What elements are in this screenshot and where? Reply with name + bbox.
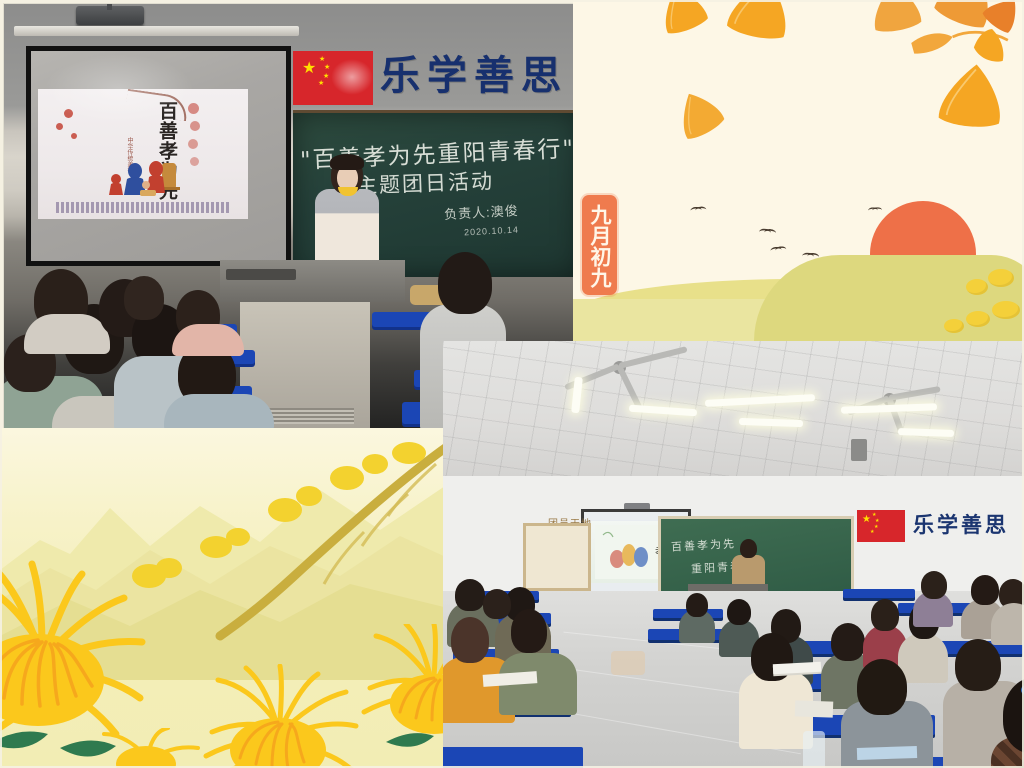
filial-piety-figure-illustration bbox=[100, 157, 196, 199]
screen-roller-bar bbox=[14, 26, 299, 36]
ginkgo-leaf-icon bbox=[664, 79, 734, 149]
blossom-dot bbox=[71, 133, 77, 139]
collage-canvas: 百善孝为先 中华传统美德 ★ ★ ★ ★ ★ bbox=[0, 0, 1024, 768]
water-bottle bbox=[803, 731, 825, 768]
tree-clump bbox=[268, 498, 302, 522]
student-head bbox=[727, 599, 751, 625]
tree-clump bbox=[330, 466, 364, 490]
chinese-flag-icon: ★ ★ ★ ★ ★ bbox=[857, 510, 905, 542]
tree-clump bbox=[944, 319, 964, 333]
flag-small-star: ★ bbox=[323, 73, 329, 80]
tree-clump bbox=[362, 454, 388, 474]
blackboard-line-3: 负责人:澳俊 bbox=[444, 200, 520, 223]
student-body bbox=[24, 314, 110, 354]
bird-icon bbox=[690, 207, 702, 215]
student-head bbox=[511, 609, 547, 653]
tree-clump bbox=[988, 269, 1014, 287]
student-body bbox=[898, 633, 948, 683]
student-body bbox=[172, 324, 244, 356]
presenter-hair bbox=[330, 154, 364, 170]
wall-banner-text: 乐学善思 bbox=[380, 48, 576, 104]
slide-caption-text bbox=[56, 202, 231, 213]
flag-small-star: ★ bbox=[874, 525, 878, 530]
ginkgo-leaf-icon bbox=[928, 56, 1017, 134]
books-stack bbox=[857, 746, 917, 760]
ginkgo-leaf-icon bbox=[649, 0, 715, 40]
bird-icon bbox=[759, 228, 771, 236]
student-head bbox=[971, 575, 999, 605]
student-head bbox=[124, 276, 164, 320]
wall-banner-text: 乐学善思 bbox=[913, 509, 1009, 539]
bird-icon bbox=[868, 207, 878, 214]
tree-clump bbox=[226, 528, 250, 546]
tree-clump bbox=[296, 486, 322, 506]
panel-chrysanthemum-illustration bbox=[0, 428, 448, 768]
blossom-dot bbox=[188, 139, 198, 149]
wall-speaker bbox=[851, 439, 867, 461]
student-head bbox=[686, 593, 708, 617]
presenter-body bbox=[315, 189, 379, 264]
desk bbox=[843, 589, 915, 598]
student-head bbox=[455, 579, 485, 611]
student-head bbox=[955, 639, 1001, 691]
flag-small-star: ★ bbox=[870, 530, 874, 535]
student-head bbox=[438, 252, 492, 314]
blackboard-line-1: 百善孝为先 bbox=[671, 535, 737, 554]
chrysanthemum-small bbox=[86, 728, 206, 768]
projector-mount bbox=[107, 4, 112, 10]
flag-small-star: ★ bbox=[319, 56, 325, 63]
teacher-head bbox=[740, 539, 757, 558]
seal-stamp: 九月初九 bbox=[582, 195, 617, 295]
floor-mark bbox=[611, 651, 645, 675]
flag-big-star: ★ bbox=[862, 515, 871, 525]
flag-big-star: ★ bbox=[302, 61, 316, 77]
flag-small-star: ★ bbox=[318, 80, 324, 87]
chrysanthemum-right bbox=[352, 624, 448, 764]
student-head bbox=[857, 659, 907, 715]
left-notice-board bbox=[523, 523, 591, 591]
flag-small-star: ★ bbox=[324, 64, 330, 71]
student-head bbox=[921, 571, 947, 599]
tree-clump bbox=[966, 311, 990, 327]
blossom-dot bbox=[56, 123, 63, 130]
student-head bbox=[451, 617, 489, 663]
panel-double-ninth-illustration: 九月初九 bbox=[573, 0, 1024, 341]
student-head bbox=[483, 589, 511, 619]
bird-icon bbox=[770, 246, 782, 254]
books-stack bbox=[795, 700, 834, 717]
hill-near bbox=[754, 255, 1024, 341]
desk bbox=[443, 747, 583, 768]
panel-classroom-wide-photo: 孝 百善孝为先 重阳青春行 ★ ★ ★ ★ ★ 乐学善思 公告栏 团员天地 bbox=[443, 341, 1024, 768]
ceiling-tiles bbox=[443, 341, 1024, 481]
podium-computer bbox=[226, 269, 296, 280]
screen-glare bbox=[44, 54, 194, 124]
tree-clump bbox=[966, 279, 988, 295]
student-head bbox=[831, 623, 865, 661]
tree-clump bbox=[992, 301, 1020, 319]
podium-top bbox=[220, 260, 405, 302]
flag-glare bbox=[331, 59, 373, 95]
student-head bbox=[751, 633, 793, 681]
chrysanthemum-mid bbox=[180, 664, 380, 768]
chinese-flag-icon: ★ ★ ★ ★ ★ bbox=[293, 51, 373, 105]
tree-clump bbox=[392, 442, 426, 464]
ginkgo-leaf-icon bbox=[718, 0, 804, 49]
student-head bbox=[871, 599, 899, 631]
student-body bbox=[164, 394, 274, 428]
bird-icon bbox=[802, 252, 814, 260]
